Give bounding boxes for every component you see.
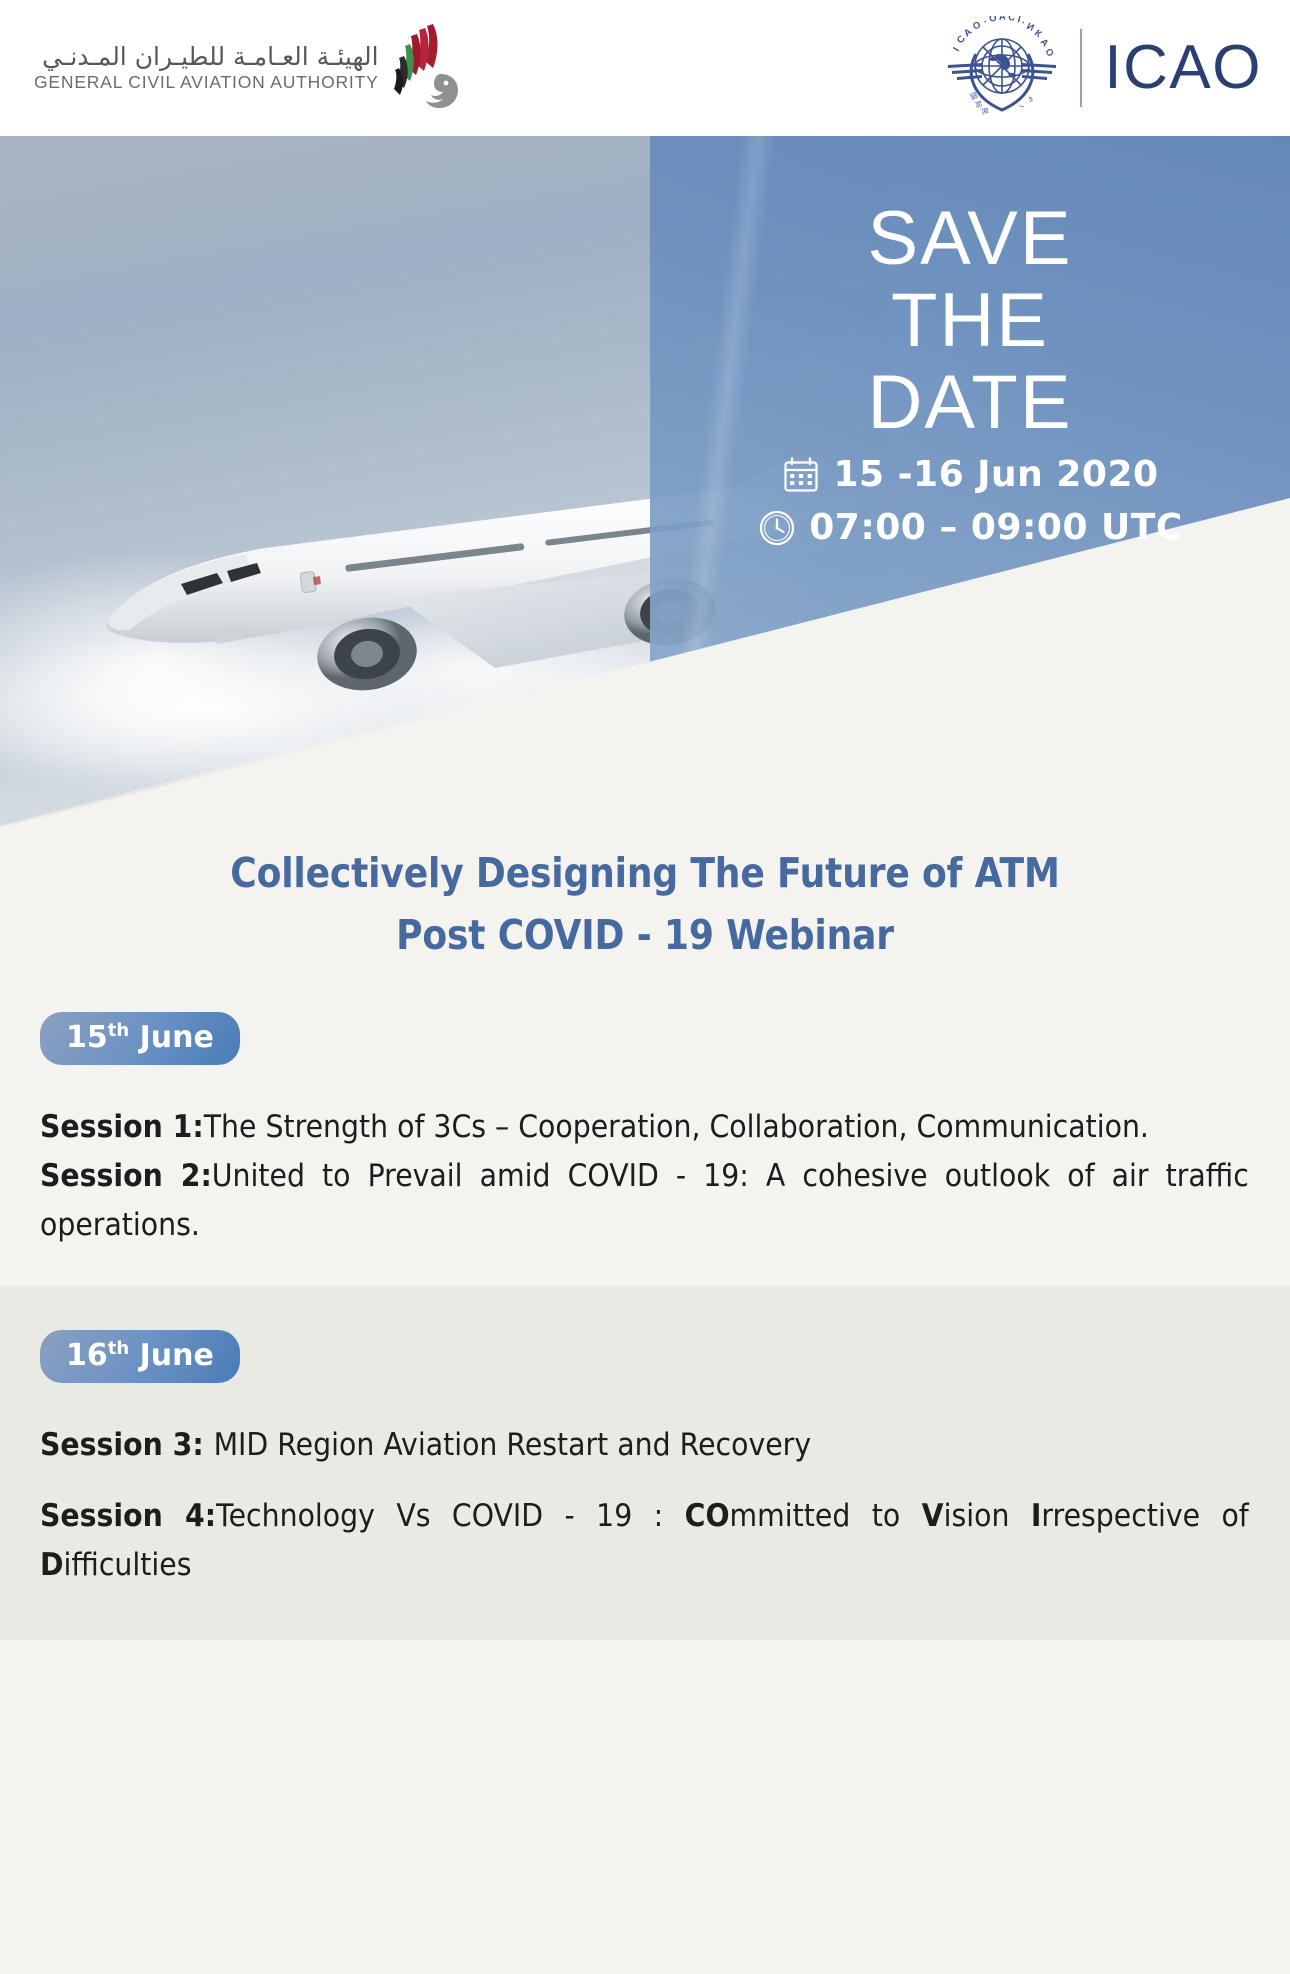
- svg-text:А: А: [1038, 37, 1051, 50]
- session-4-emph-co: CO: [685, 1498, 730, 1534]
- svg-text:I: I: [952, 46, 963, 54]
- session-1-text: The Strength of 3Cs – Cooperation, Colla…: [204, 1109, 1149, 1145]
- svg-text:И: И: [1025, 21, 1036, 34]
- falcon-wing-logo-icon: [389, 22, 459, 114]
- session-2-line: Session 2:United to Prevail amid COVID -…: [40, 1152, 1249, 1250]
- badge-day-number: 16: [66, 1338, 108, 1373]
- badge-ordinal: th: [108, 1020, 129, 1041]
- save-word-3: DATE: [650, 362, 1290, 444]
- icao-un-wings-emblem-icon: I C A O · O A C I · И К А О 国 际: [946, 16, 1058, 120]
- day1-sessions: Session 1:The Strength of 3Cs – Cooperat…: [40, 1103, 1249, 1250]
- event-date-row: 15 -16 Jun 2020: [650, 454, 1290, 495]
- save-word-1: SAVE: [650, 198, 1290, 280]
- icao-wordmark: ICAO: [1104, 37, 1262, 99]
- session-3-text: MID Region Aviation Restart and Recovery: [214, 1427, 812, 1463]
- svg-text:国: 国: [969, 91, 979, 101]
- calendar-icon: [781, 455, 821, 495]
- session-3-line: Session 3: MID Region Aviation Restart a…: [40, 1421, 1249, 1470]
- badge-month: June: [140, 1020, 214, 1055]
- badge-month: June: [140, 1338, 214, 1373]
- svg-text:·: ·: [983, 16, 990, 27]
- svg-text:A: A: [999, 16, 1007, 23]
- svg-text:К: К: [1033, 28, 1045, 40]
- event-time-text: 07:00 – 09:00 UTC: [809, 507, 1183, 548]
- svg-text:O: O: [971, 19, 983, 32]
- svg-text:民: 民: [980, 107, 989, 115]
- event-date-text: 15 -16 Jun 2020: [833, 454, 1158, 495]
- date-badge-15-june[interactable]: 15th June: [40, 1012, 240, 1065]
- badge-day-number: 15: [66, 1020, 108, 1055]
- gcaa-arabic-name: الهيئـة العـامـة للطيـران المـدنـي: [42, 44, 378, 69]
- session-4-text-1: Technology Vs COVID - 19 :: [216, 1498, 685, 1534]
- gcaa-logo: الهيئـة العـامـة للطيـران المـدنـي GENER…: [34, 22, 459, 114]
- event-time-row: 07:00 – 09:00 UTC: [650, 507, 1290, 548]
- session-4-text-5: ifficulties: [64, 1547, 192, 1583]
- svg-text:О: О: [1043, 47, 1056, 59]
- icao-logo: I C A O · O A C I · И К А О 国 际: [946, 16, 1262, 120]
- date-badge-16-june[interactable]: 16th June: [40, 1330, 240, 1383]
- day2-sessions: Session 3: MID Region Aviation Restart a…: [40, 1421, 1249, 1590]
- day-section-15-june: 15th June Session 1:The Strength of 3Cs …: [0, 966, 1290, 1286]
- session-4-emph-i: I: [1031, 1498, 1042, 1534]
- day-section-16-june: 16th June Session 3: MID Region Aviation…: [0, 1286, 1290, 1640]
- poster-page: الهيئـة العـامـة للطيـران المـدنـي GENER…: [0, 0, 1290, 1974]
- save-the-date-block: SAVE THE DATE: [650, 136, 1290, 826]
- page-title-line-1: Collectively Designing The Future of ATM: [77, 842, 1212, 904]
- svg-text:O: O: [988, 16, 998, 25]
- session-2-text: United to Prevail amid COVID - 19: A coh…: [40, 1158, 1249, 1243]
- page-title-line-2: Post COVID - 19 Webinar: [77, 904, 1212, 966]
- svg-text:ا: ا: [1019, 105, 1027, 109]
- session-4-line: Session 4:Technology Vs COVID - 19 : COm…: [40, 1492, 1249, 1590]
- session-4-emph-d: D: [40, 1547, 64, 1583]
- page-title: Collectively Designing The Future of ATM…: [77, 826, 1212, 966]
- main-content: Collectively Designing The Future of ATM…: [0, 826, 1290, 1974]
- save-word-2: THE: [650, 280, 1290, 362]
- session-3-label: Session 3:: [40, 1427, 214, 1463]
- session-2-label: Session 2:: [40, 1158, 212, 1194]
- badge-ordinal: th: [108, 1338, 129, 1359]
- gcaa-logo-text: الهيئـة العـامـة للطيـران المـدنـي GENER…: [34, 44, 379, 92]
- hero-banner: SAVE THE DATE: [0, 136, 1290, 826]
- session-1-label: Session 1:: [40, 1109, 204, 1145]
- header-bar: الهيئـة العـامـة للطيـران المـدنـي GENER…: [0, 0, 1290, 136]
- session-4-text-3: ision: [944, 1498, 1031, 1534]
- gcaa-english-name: GENERAL CIVIL AVIATION AUTHORITY: [34, 74, 379, 92]
- session-1-line: Session 1:The Strength of 3Cs – Cooperat…: [40, 1103, 1249, 1152]
- icao-logo-divider: [1080, 29, 1082, 107]
- session-4-label: Session 4:: [40, 1498, 216, 1534]
- session-4-text-4: rrespective of: [1041, 1498, 1248, 1534]
- svg-text:C: C: [1008, 16, 1016, 24]
- session-4-text-2: mmitted to: [730, 1498, 922, 1534]
- clock-icon: [757, 508, 797, 548]
- svg-text:ي: ي: [1025, 94, 1035, 103]
- session-4-emph-v: V: [922, 1498, 944, 1534]
